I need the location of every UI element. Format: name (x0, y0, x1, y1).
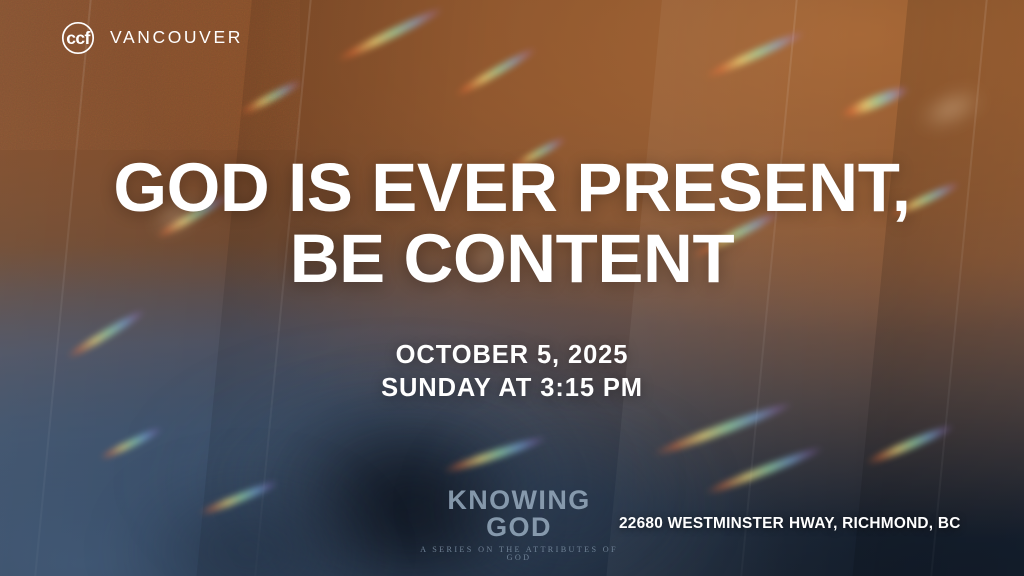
series-logo: KNOWING GOD A SERIES ON THE ATTRIBUTES O… (413, 487, 625, 562)
sermon-announcement-slide: ccf VANCOUVER GOD IS EVER PRESENT, BE CO… (0, 0, 1024, 576)
brand-logo[interactable]: ccf VANCOUVER (58, 17, 243, 57)
headline-line-1: GOD IS EVER PRESENT, (113, 149, 910, 226)
venue-road-type: HWAY, (789, 515, 838, 532)
event-date: OCTOBER 5, 2025 (0, 339, 1024, 372)
venue-street: 22680 WESTMINSTER (619, 515, 784, 532)
event-datetime: OCTOBER 5, 2025 SUNDAY AT 3:15 PM (0, 339, 1024, 406)
svg-text:ccf: ccf (66, 28, 90, 48)
venue-city-province: RICHMOND, BC (842, 515, 960, 532)
headline-line-2: BE CONTENT (0, 223, 1024, 294)
series-title: KNOWING GOD (413, 487, 625, 541)
venue-address: 22680 WESTMINSTERHWAY, RICHMOND, BC (619, 515, 961, 533)
brand-wordmark: VANCOUVER (110, 27, 243, 48)
event-time: SUNDAY AT 3:15 PM (0, 372, 1024, 405)
ccf-circle-logo-icon: ccf (58, 17, 98, 57)
page-title: GOD IS EVER PRESENT, BE CONTENT (0, 152, 1024, 294)
series-subtitle: A SERIES ON THE ATTRIBUTES OF GOD (413, 546, 625, 562)
